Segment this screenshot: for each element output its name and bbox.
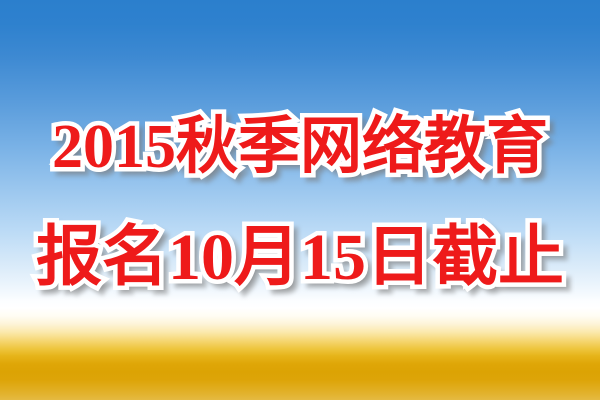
headline-line-2: 报名10月15日截止 报名10月15日截止 报名10月15日截止	[0, 226, 600, 290]
headline-line-2-text: 报名10月15日截止	[36, 221, 564, 294]
headline-block: 2015秋季网络教育 2015秋季网络教育 2015秋季网络教育 报名10月15…	[0, 0, 600, 400]
headline-line-1: 2015秋季网络教育 2015秋季网络教育 2015秋季网络教育	[0, 115, 600, 179]
headline-line-1-text: 2015秋季网络教育	[52, 113, 548, 181]
promo-banner: 2015秋季网络教育 2015秋季网络教育 2015秋季网络教育 报名10月15…	[0, 0, 600, 400]
